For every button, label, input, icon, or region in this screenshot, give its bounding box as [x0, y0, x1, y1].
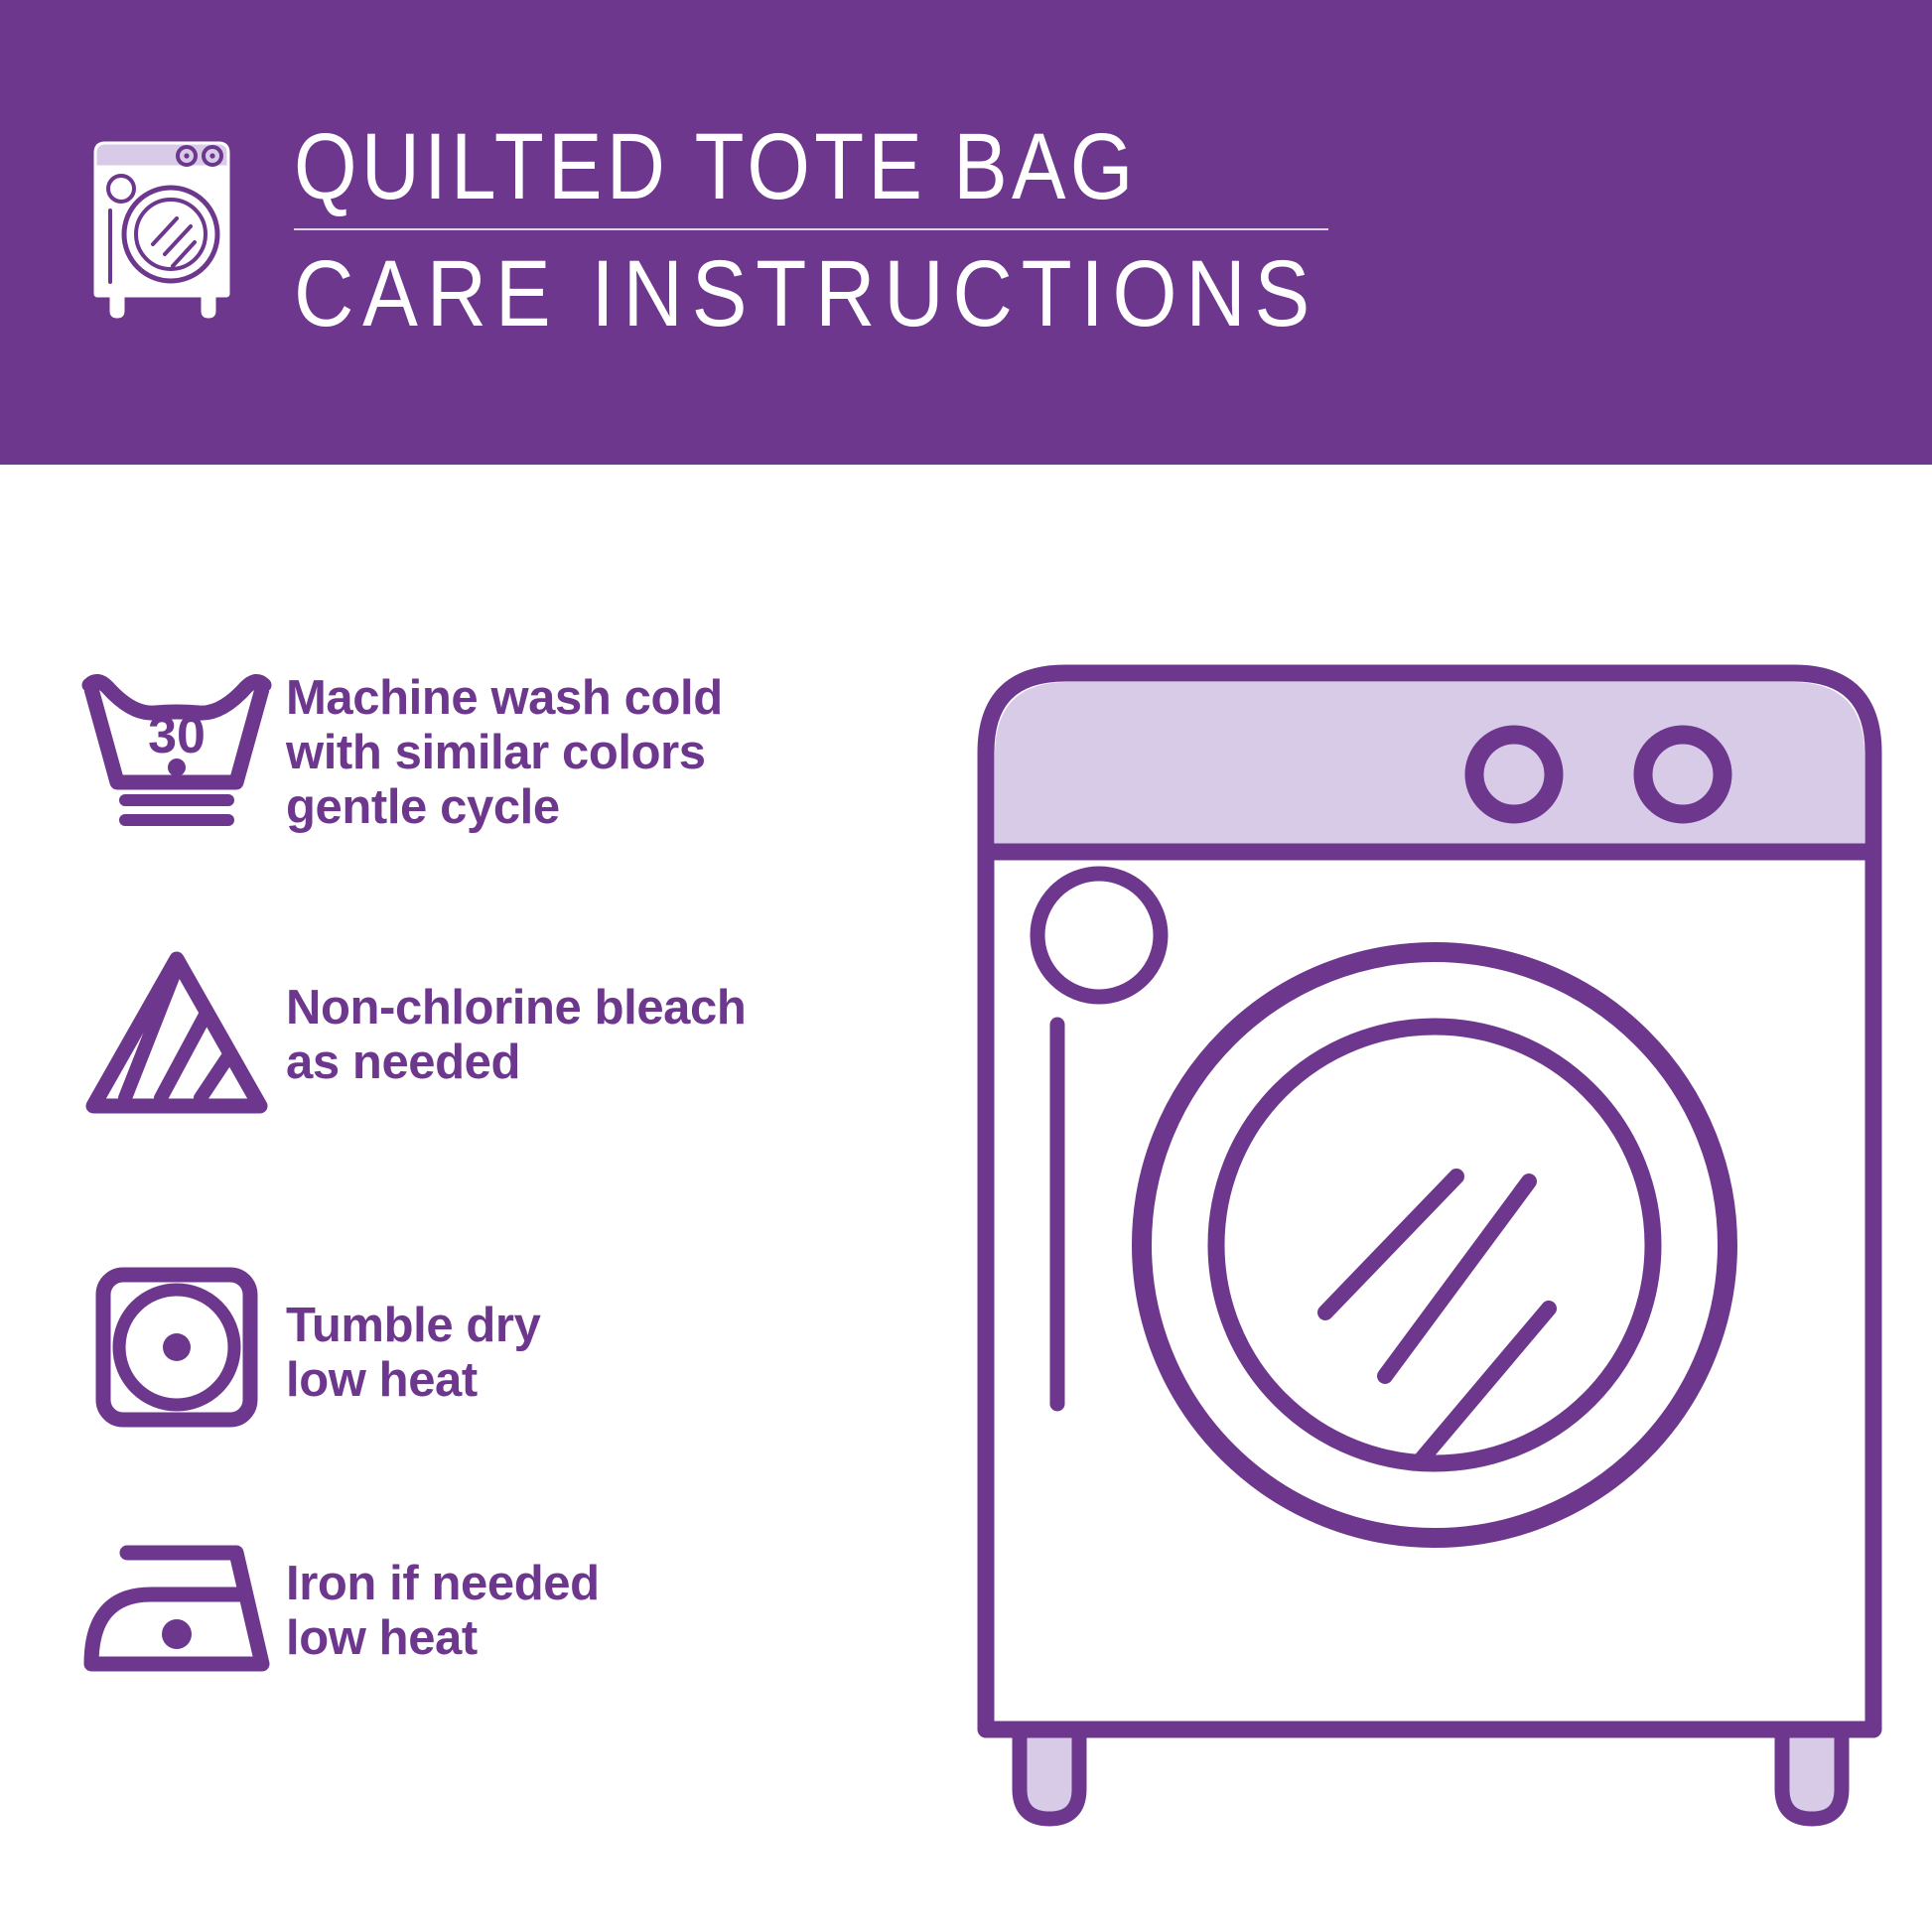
- machine-control-panel: [995, 682, 1864, 852]
- tumble-dry-dot-icon: [163, 1333, 191, 1361]
- wash-tub-30-icon: 30: [77, 667, 286, 831]
- wash-temperature-value: 30: [148, 707, 206, 764]
- header-banner: QUILTED TOTE BAG CARE INSTRUCTIONS: [0, 0, 1932, 465]
- iron-icon: [77, 1531, 286, 1680]
- wash-dot-icon: [168, 759, 186, 776]
- care-text-wash: Machine wash cold with similar colors ge…: [286, 667, 951, 835]
- care-instructions-page: QUILTED TOTE BAG CARE INSTRUCTIONS 30 Ma…: [0, 0, 1932, 1932]
- header-titles: QUILTED TOTE BAG CARE INSTRUCTIONS: [294, 119, 1396, 342]
- care-row-wash: 30 Machine wash cold with similar colors…: [77, 667, 951, 835]
- care-row-tumble-dry: Tumble dry low heat: [77, 1263, 951, 1432]
- care-text-tumble-dry: Tumble dry low heat: [286, 1263, 951, 1408]
- page-subtitle: CARE INSTRUCTIONS: [294, 246, 1264, 342]
- care-text-iron: Iron if needed low heat: [286, 1531, 951, 1666]
- washing-machine-illustration: [968, 645, 1891, 1857]
- iron-dot-icon: [162, 1619, 192, 1649]
- care-row-bleach: Non-chlorine bleach as needed: [77, 945, 951, 1119]
- care-text-bleach: Non-chlorine bleach as needed: [286, 945, 951, 1090]
- washing-machine-icon: [77, 131, 251, 320]
- page-title: QUILTED TOTE BAG: [294, 119, 1242, 214]
- bleach-triangle-icon: [77, 945, 286, 1119]
- care-row-iron: Iron if needed low heat: [77, 1531, 951, 1680]
- title-divider: [294, 228, 1328, 230]
- header-content: QUILTED TOTE BAG CARE INSTRUCTIONS: [77, 119, 1368, 347]
- tumble-dry-icon: [77, 1263, 286, 1432]
